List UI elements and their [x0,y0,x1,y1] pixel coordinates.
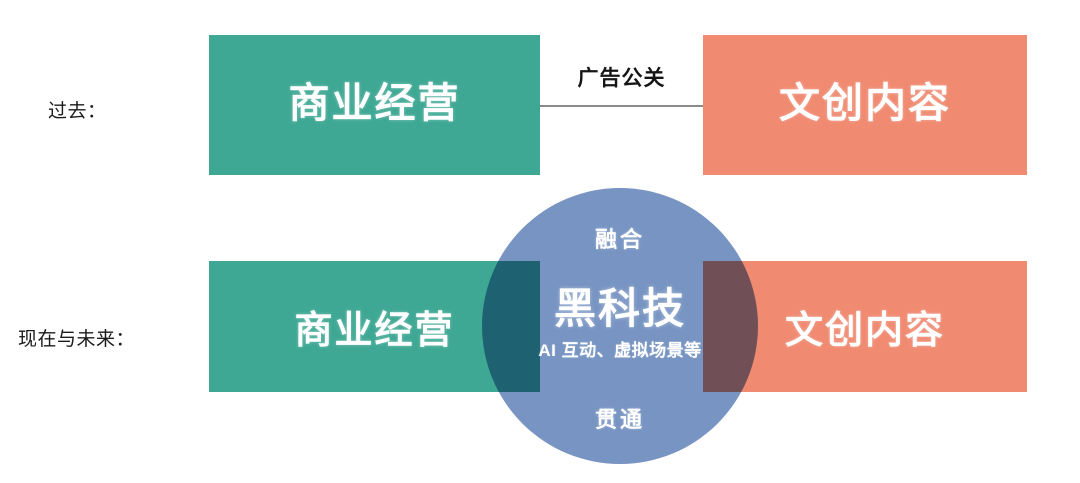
block-now-business-label: 商业经营 [294,299,454,354]
diagram-canvas: 过去： 商业经营 广告公关 文创内容 现在与未来： 商业经营 文创内容 融合 黑… [0,0,1080,483]
block-past-business: 商业经营 [209,35,540,175]
block-past-business-label: 商业经营 [289,69,461,129]
block-past-content: 文创内容 [703,35,1027,175]
row-label-present-future: 现在与未来： [18,324,135,351]
block-now-content-label: 文创内容 [785,299,945,354]
fusion-circle-shape [482,188,758,464]
row-label-past: 过去： [48,96,107,123]
connector-line-icon [540,105,703,107]
connector-label-advertising-pr: 广告公关 [540,62,703,92]
block-past-content-label: 文创内容 [779,69,951,129]
